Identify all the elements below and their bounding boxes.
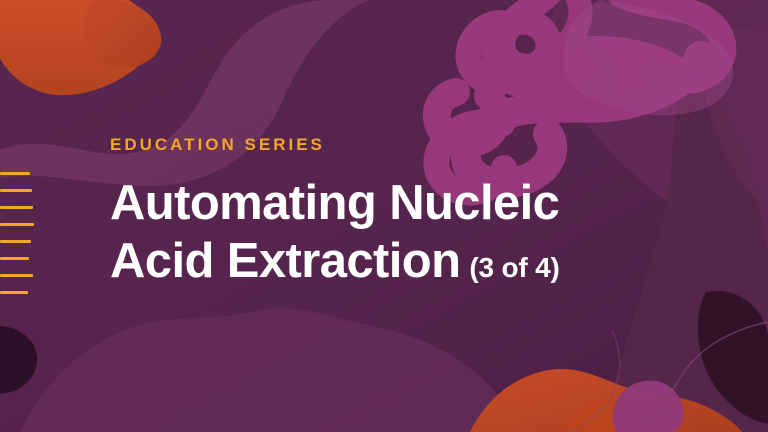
title-line-2: Acid Extraction: [110, 234, 460, 288]
tick-line: [0, 189, 32, 192]
tick-line: [0, 206, 33, 209]
tick-line: [0, 274, 33, 277]
tick-line: [0, 291, 28, 294]
left-edge-gold-tick-lines: [0, 172, 40, 297]
title-line-2-wrap: Acid Extraction(3 of 4): [110, 233, 560, 291]
tick-line: [0, 172, 30, 175]
title-text-block: EDUCATION SERIES Automating Nucleic Acid…: [110, 136, 560, 291]
title-line-1: Automating Nucleic: [110, 175, 560, 233]
title-slide: EDUCATION SERIES Automating Nucleic Acid…: [0, 0, 768, 432]
page-title: Automating Nucleic Acid Extraction(3 of …: [110, 175, 560, 291]
tick-line: [0, 240, 31, 243]
tick-line: [0, 223, 34, 226]
series-eyebrow-label: EDUCATION SERIES: [110, 136, 560, 153]
tick-line: [0, 257, 29, 260]
part-counter: (3 of 4): [469, 252, 559, 283]
